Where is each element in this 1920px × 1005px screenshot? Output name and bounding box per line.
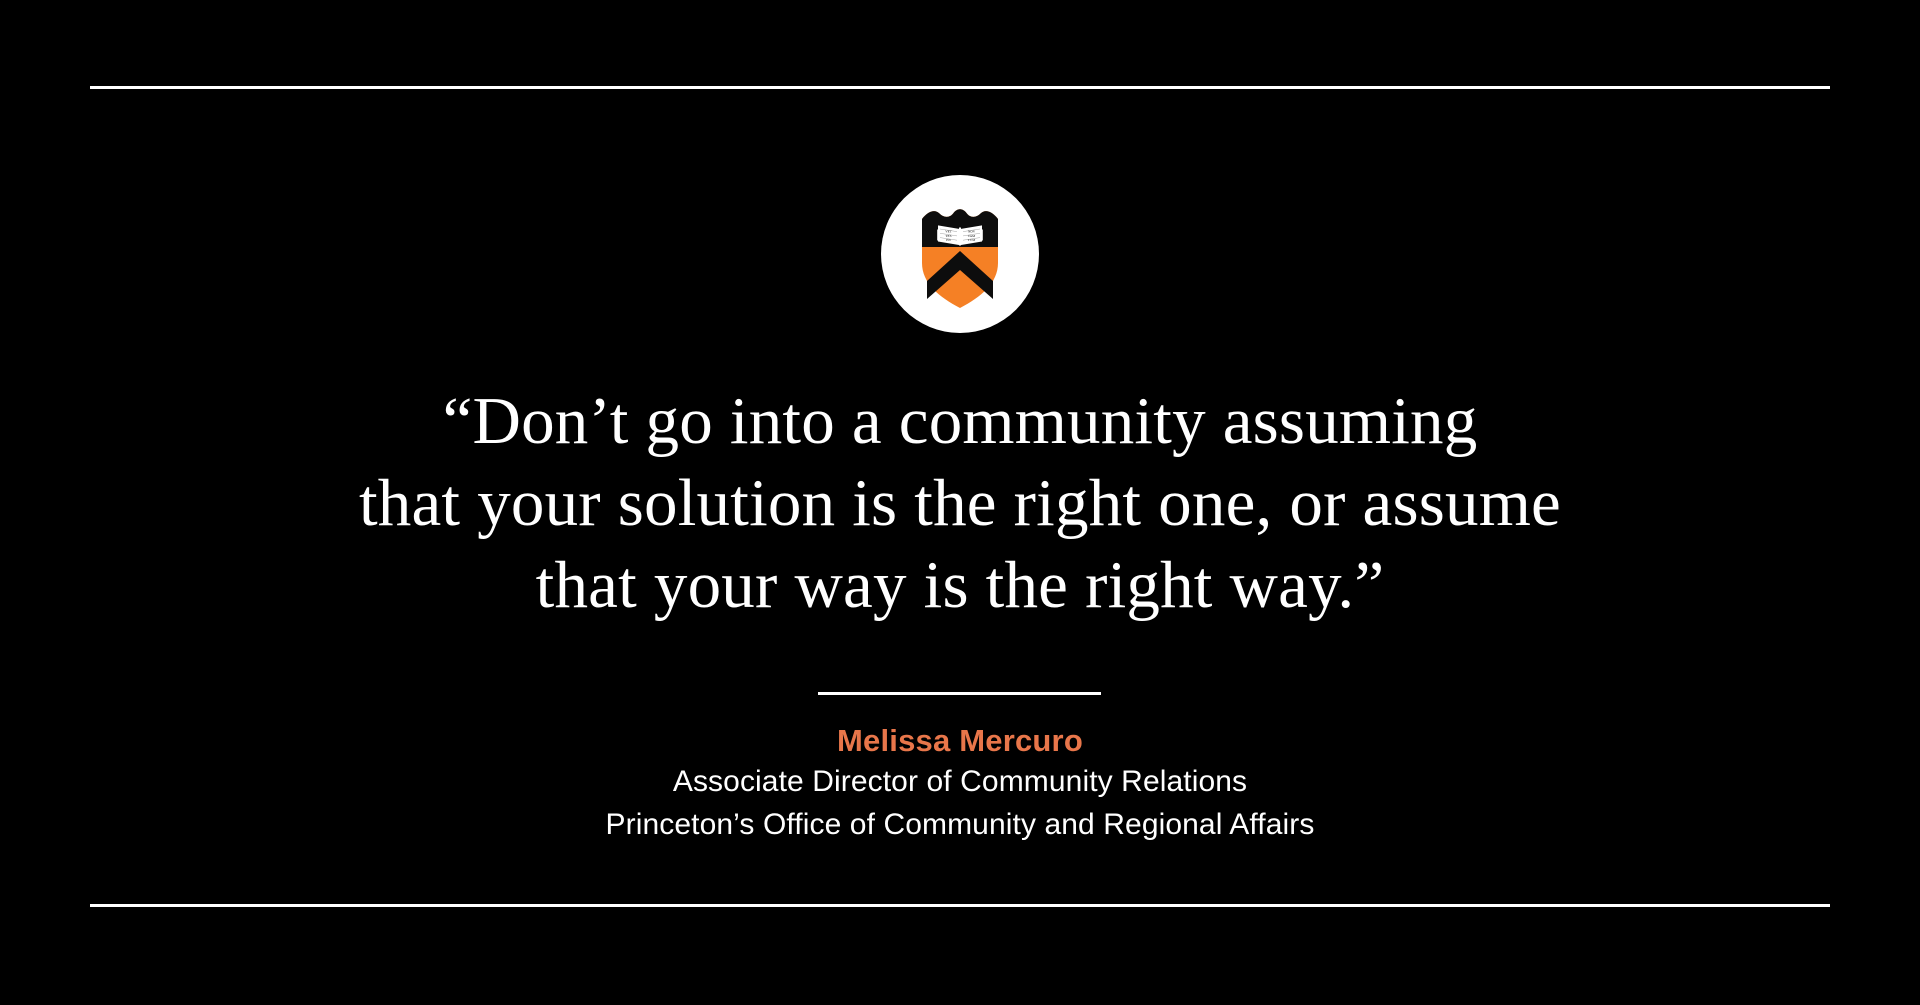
- quote-line-2: that your solution is the right one, or …: [0, 462, 1920, 544]
- bottom-divider-rule: [90, 904, 1830, 907]
- quote-text: “Don’t go into a community assuming that…: [0, 380, 1920, 626]
- attribution-block: Melissa Mercuro Associate Director of Co…: [0, 722, 1920, 846]
- quote-line-1: “Don’t go into a community assuming: [0, 380, 1920, 462]
- open-book-right-page: NOV TAM TVM: [961, 225, 982, 245]
- open-book-left-page: VET TES EN: [938, 225, 959, 245]
- attribution-name: Melissa Mercuro: [0, 722, 1920, 760]
- top-divider-rule: [90, 86, 1830, 89]
- attribution-title: Associate Director of Community Relation…: [0, 760, 1920, 803]
- quote-line-3: that your way is the right way.”: [0, 544, 1920, 626]
- attribution-divider-rule: [818, 692, 1101, 695]
- princeton-shield-logo: VET TES EN NOV TAM TVM: [881, 175, 1039, 333]
- quote-slide: VET TES EN NOV TAM TVM: [0, 0, 1920, 1005]
- attribution-organization: Princeton’s Office of Community and Regi…: [0, 803, 1920, 846]
